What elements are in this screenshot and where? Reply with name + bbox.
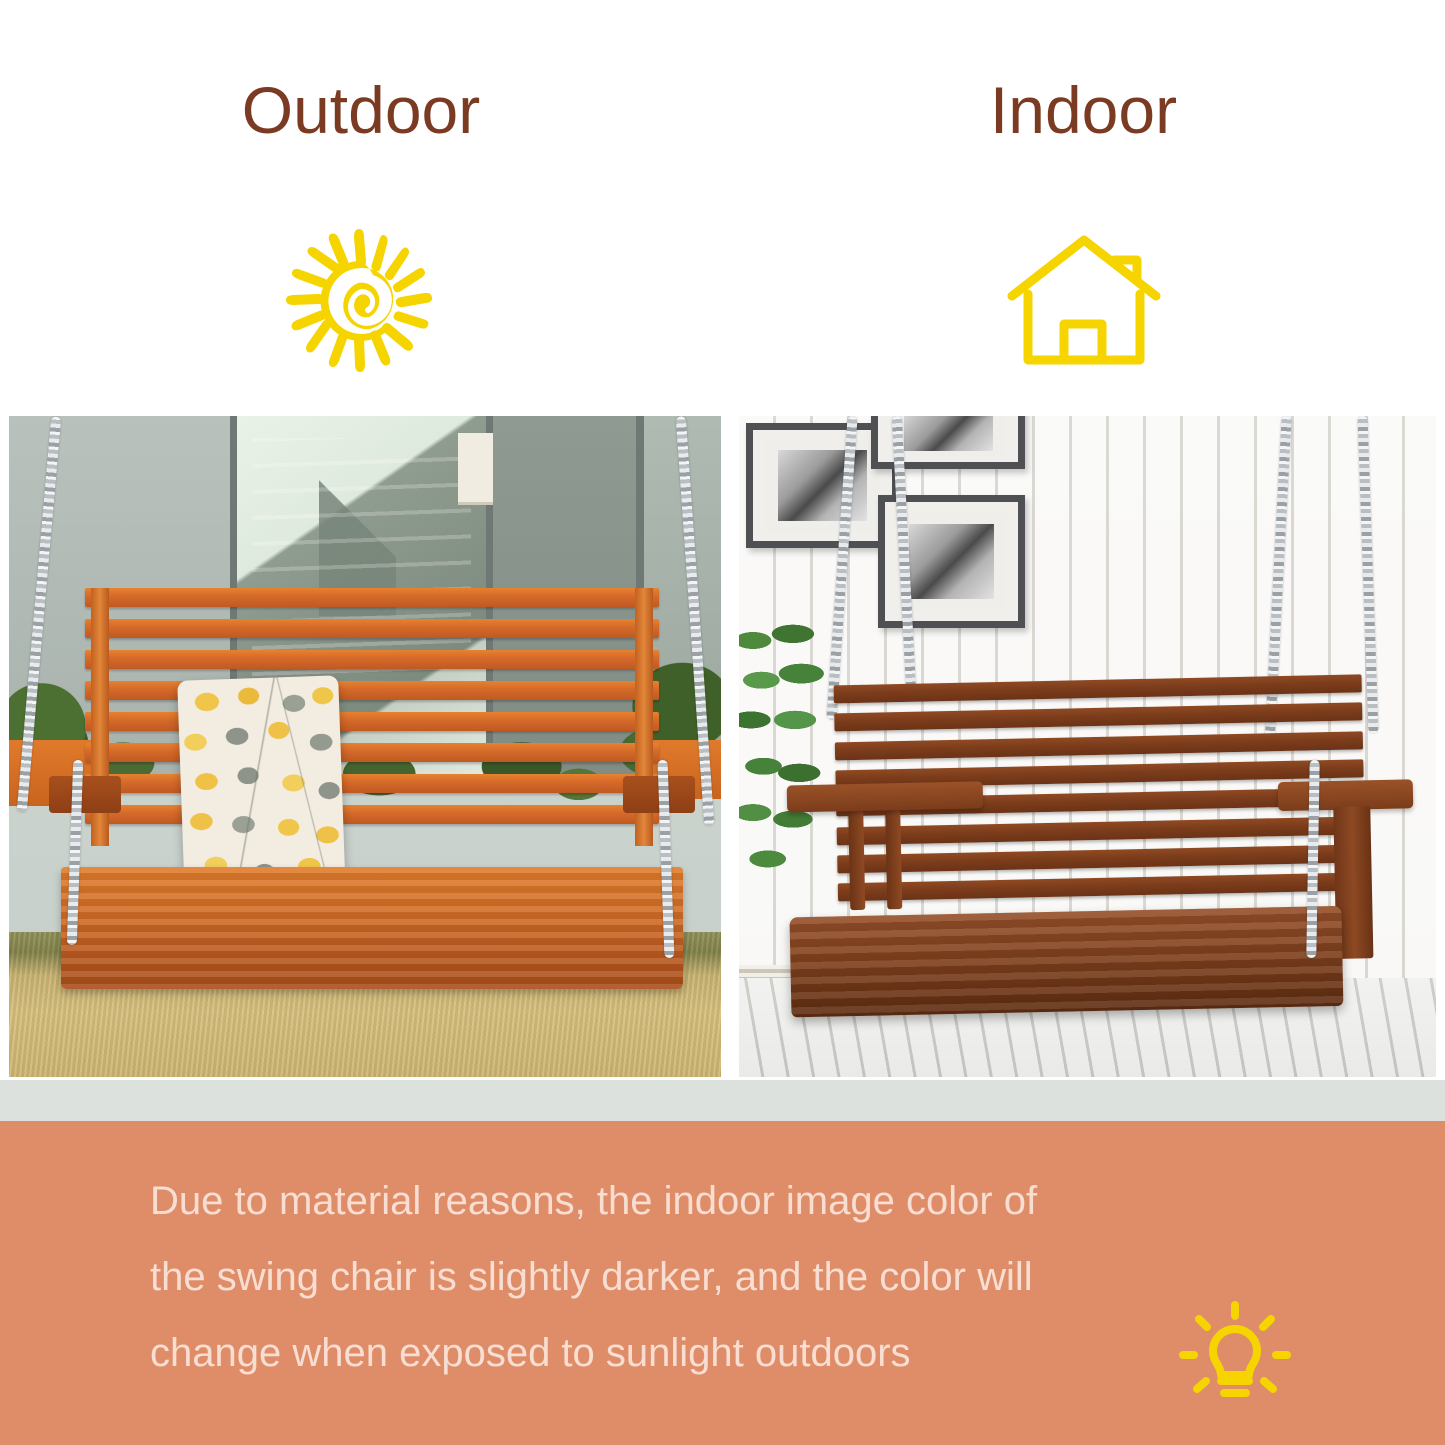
indoor-slat <box>838 873 1366 902</box>
indoor-frame-image <box>904 415 993 451</box>
outdoor-swing-backrest <box>85 588 659 846</box>
outdoor-slat <box>85 650 659 669</box>
indoor-swing-spindle <box>885 810 902 909</box>
lightbulb-icon <box>1175 1299 1295 1409</box>
icon-row <box>0 185 1445 415</box>
indoor-swing-seat <box>789 907 1343 1018</box>
heading-outdoor: Outdoor <box>0 72 722 148</box>
disclaimer-line: Due to material reasons, the indoor imag… <box>150 1163 1240 1239</box>
house-icon <box>1004 228 1164 373</box>
outdoor-swing-armrest-left <box>49 776 121 813</box>
photo-indoor <box>738 415 1437 1078</box>
outdoor-slat <box>85 619 659 638</box>
headings-row: Outdoor Indoor <box>0 0 1445 185</box>
sun-icon-cell <box>0 185 722 415</box>
disclaimer-text: Due to material reasons, the indoor imag… <box>150 1163 1240 1391</box>
indoor-slat <box>837 845 1365 874</box>
photo-outdoor <box>8 415 722 1078</box>
disclaimer-line: change when exposed to sunlight outdoors <box>150 1315 1240 1391</box>
outdoor-slat <box>85 681 659 700</box>
disclaimer-banner: Due to material reasons, the indoor imag… <box>0 1121 1445 1445</box>
photo-row <box>0 415 1445 1080</box>
outdoor-slat <box>85 774 659 793</box>
indoor-swing-armrest-left <box>786 782 983 813</box>
indoor-swing-spindle <box>848 811 865 910</box>
sun-icon <box>274 215 449 385</box>
disclaimer-line: the swing chair is slightly darker, and … <box>150 1239 1240 1315</box>
outdoor-slat <box>85 712 659 731</box>
indoor-frame-image <box>909 524 994 600</box>
indoor-slat <box>836 817 1364 846</box>
indoor-slat <box>834 703 1362 732</box>
outdoor-slat <box>85 743 659 762</box>
outdoor-porch-swing <box>73 588 671 998</box>
outdoor-slat <box>85 805 659 824</box>
indoor-slat <box>835 731 1363 760</box>
heading-indoor: Indoor <box>722 72 1445 148</box>
house-icon-cell <box>722 185 1445 415</box>
outdoor-swing-seat <box>61 867 683 990</box>
outdoor-slat <box>85 588 659 607</box>
section-divider <box>0 1080 1445 1121</box>
